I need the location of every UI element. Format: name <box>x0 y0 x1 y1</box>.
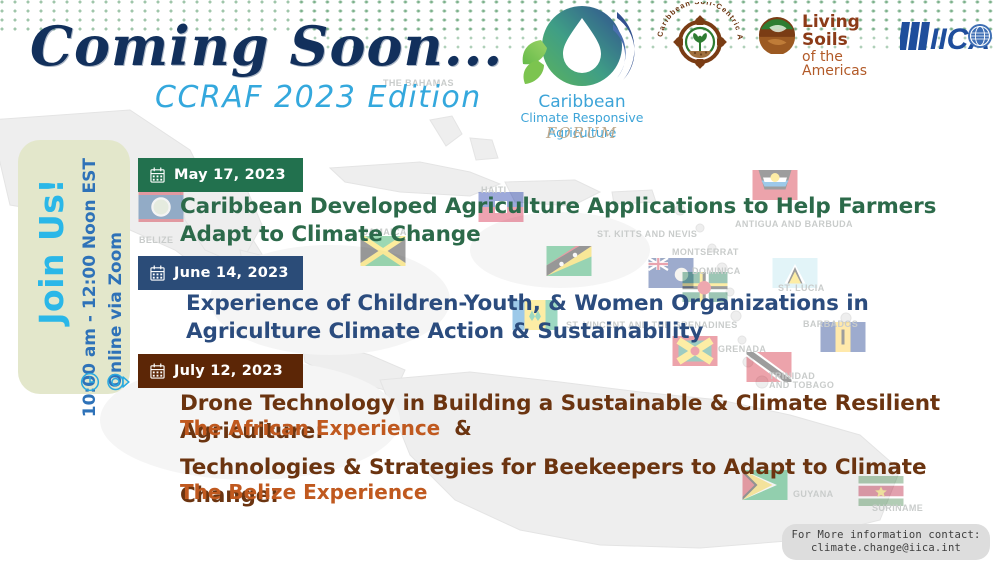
living-soils-logo: Living Soils of the Americas <box>758 14 898 60</box>
join-us-panel: Join Us! 10:00 am - 12:00 Noon EST Onlin… <box>18 140 130 394</box>
flag-belize <box>138 192 184 222</box>
session-date-badge: July 12, 2023 <box>138 354 303 388</box>
contact-email[interactable]: climate.change@iica.int <box>811 542 961 555</box>
page-subtitle: CCRAF 2023 Edition <box>155 80 482 115</box>
session-date-badge: May 17, 2023 <box>138 158 303 192</box>
join-us-heading: Join Us! <box>32 178 71 325</box>
calendar-icon <box>150 167 165 183</box>
contact-line1: For More information contact: <box>791 529 980 542</box>
clock-icon <box>80 372 100 392</box>
calendar-icon <box>150 265 165 281</box>
ccraf-logo-line3: FORUM <box>497 124 667 142</box>
session-subtitle: The Belize Experience <box>180 480 427 505</box>
map-label: GRENADA <box>718 344 766 354</box>
calendar-icon <box>150 363 165 379</box>
flag-montserrat <box>648 258 694 288</box>
caribbean-soil-centric-actions-logo: Caribbean Soil-Centric Actions <box>652 2 748 70</box>
session-date-text: May 17, 2023 <box>174 167 286 183</box>
session-subtitle-suffix: & <box>454 416 471 441</box>
map-label: AND TOBAGO <box>769 380 834 390</box>
ccraf-logo: Caribbean Climate Responsive Agriculture… <box>497 4 667 144</box>
contact-box: For More information contact: climate.ch… <box>782 524 990 560</box>
flag-st-kitts-and-nevis <box>546 246 592 276</box>
map-label: TRINIDAD <box>769 371 815 381</box>
living-soils-line1: Living Soils <box>802 14 898 50</box>
page-title: Coming Soon... <box>30 14 503 78</box>
map-label: MONTSERRAT <box>672 247 739 257</box>
ccraf-logo-line1: Caribbean <box>497 92 667 112</box>
session-title: Experience of Children-Youth, & Women Or… <box>186 290 976 345</box>
session-date-text: July 12, 2023 <box>174 363 283 379</box>
session-title: Caribbean Developed Agriculture Applicat… <box>180 193 980 248</box>
map-label: DOMINICA <box>692 266 741 276</box>
session-subtitle: The African Experience <box>180 416 440 441</box>
map-label: BELIZE <box>139 235 173 245</box>
session-date-text: June 14, 2023 <box>174 265 289 281</box>
flag-st-lucia <box>772 258 818 288</box>
flag-trinidad-and-tobago <box>746 352 792 382</box>
join-us-platform: Online via Zoom <box>106 232 126 387</box>
poster-canvas: THE BAHAMAS HAITI JAMAICA BELIZE ST. KIT… <box>0 0 1000 562</box>
session-subtitle-row: The African Experience & <box>180 416 472 441</box>
session-date-badge: June 14, 2023 <box>138 256 303 290</box>
zoom-video-icon <box>106 372 130 392</box>
living-soils-line2: of the Americas <box>802 50 898 79</box>
iica-logo: IICA <box>900 16 992 58</box>
